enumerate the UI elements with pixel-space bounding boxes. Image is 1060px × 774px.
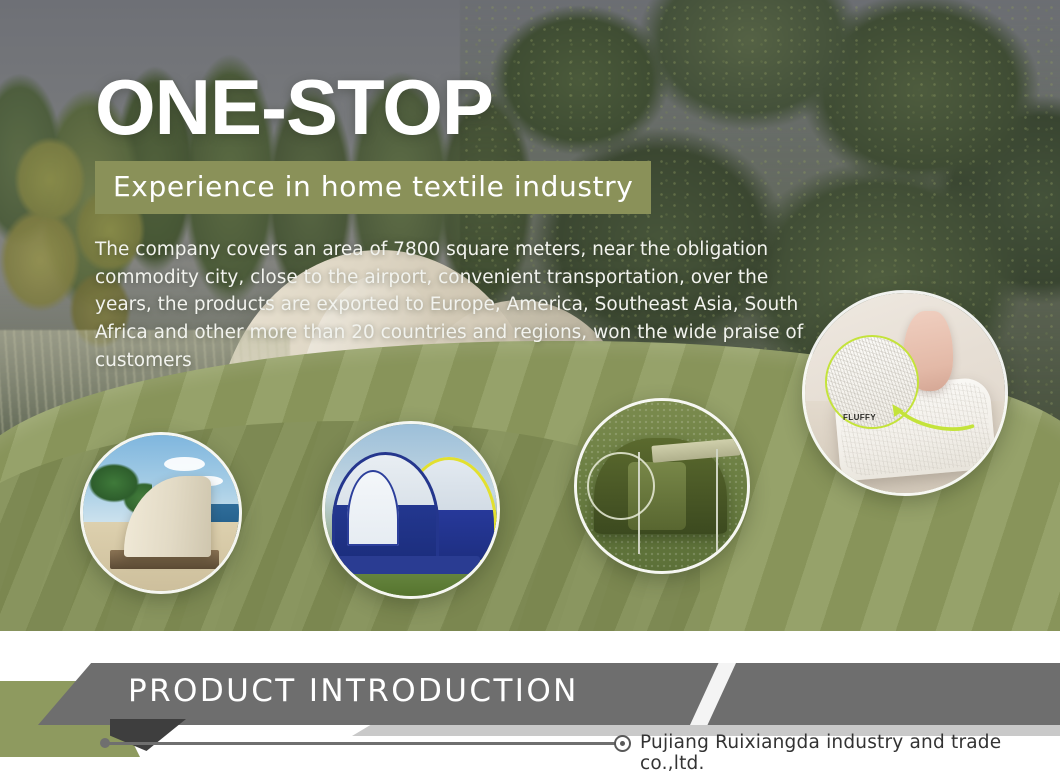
footer-divider-line <box>105 742 625 745</box>
page-title: ONE-STOP <box>95 70 855 145</box>
hero-text-block: ONE-STOP Experience in home textile indu… <box>95 70 855 375</box>
photo2-tent-base <box>335 556 479 573</box>
photo3-pole <box>716 449 718 554</box>
hero-section: ONE-STOP Experience in home textile indu… <box>0 0 1060 631</box>
section-heading: PRODUCT INTRODUCTION <box>128 673 579 709</box>
product-photo-green-camping-tent[interactable] <box>574 398 750 574</box>
product-photo-fluffy-bath-mat[interactable]: FLUFFY <box>802 290 1008 496</box>
subheadline-banner: Experience in home textile industry <box>95 161 651 214</box>
circle-dot-icon <box>614 735 631 752</box>
fluffy-label: FLUFFY <box>843 413 876 422</box>
photo1-cloud <box>164 457 205 471</box>
subheadline-text: Experience in home textile industry <box>113 170 633 203</box>
photo3-detail-circle <box>587 452 655 520</box>
curved-arrow-icon <box>885 395 977 439</box>
product-photo-blue-tunnel-tent[interactable] <box>322 421 500 599</box>
product-photo-beach-cabana-tent[interactable] <box>80 432 242 594</box>
company-description: The company covers an area of 7800 squar… <box>95 236 805 375</box>
company-name: Pujiang Ruixiangda industry and trade co… <box>640 732 1060 774</box>
product-introduction-section: PRODUCT INTRODUCTION Pujiang Ruixiangda … <box>0 631 1060 757</box>
